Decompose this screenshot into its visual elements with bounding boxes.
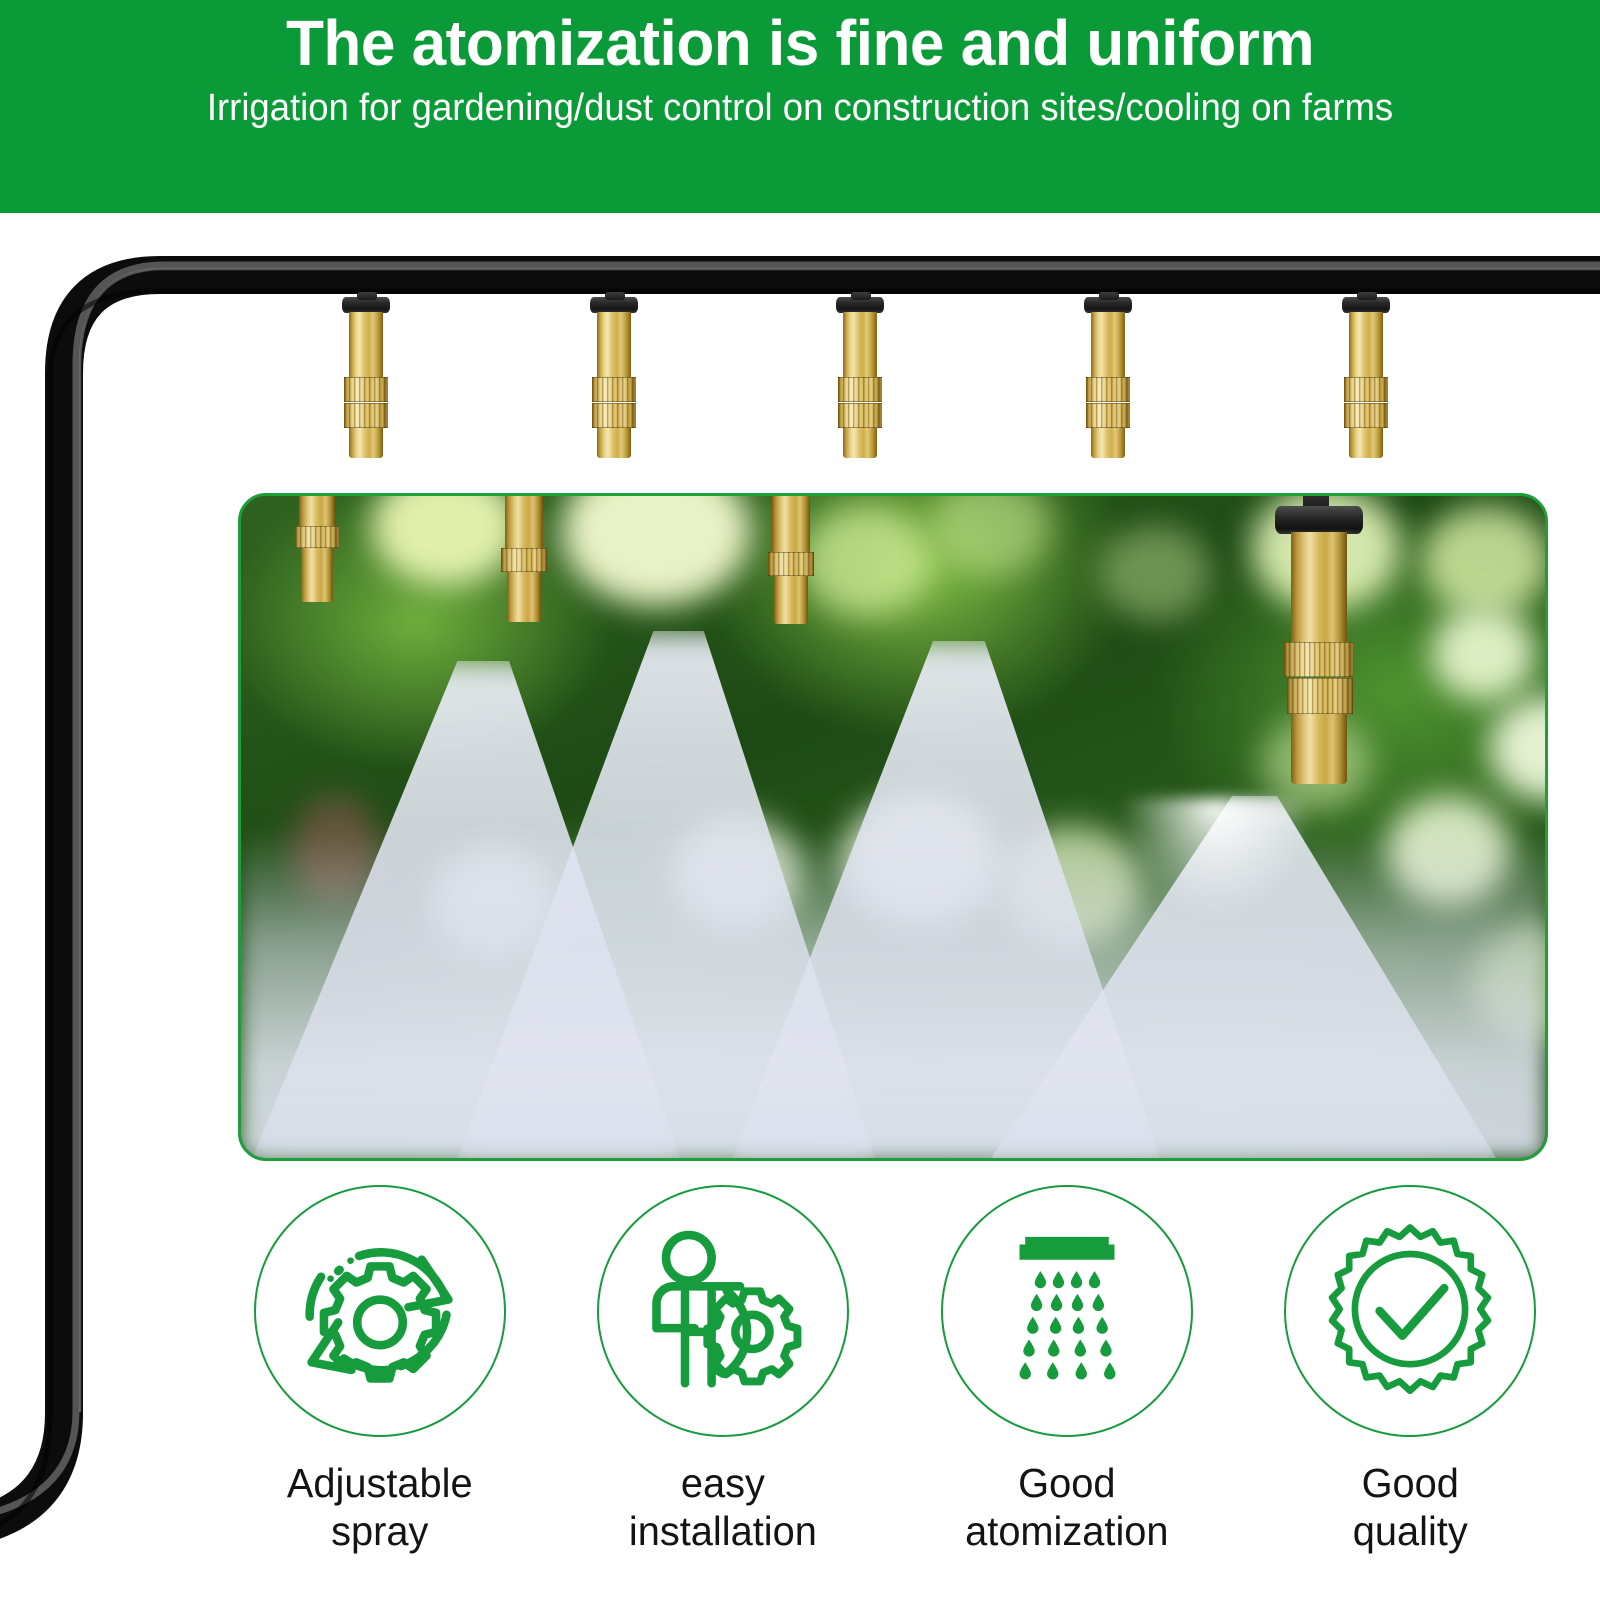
hero-nozzle-ring-lower bbox=[1287, 678, 1353, 714]
droplet-row-3 bbox=[1027, 1317, 1108, 1334]
nozzle-brass-barrel bbox=[1091, 312, 1125, 378]
photo-nozzle-tip bbox=[774, 576, 808, 624]
check-mark bbox=[1380, 1288, 1445, 1336]
photo-content bbox=[241, 496, 1545, 1158]
photo-nozzle-2 bbox=[499, 496, 549, 617]
nozzle-3 bbox=[834, 297, 886, 447]
nozzle-2 bbox=[588, 297, 640, 447]
quality-badge-check-icon bbox=[1315, 1216, 1505, 1406]
photo-nozzle-ring bbox=[501, 548, 547, 572]
feature-label-line2: installation bbox=[629, 1507, 817, 1555]
nozzle-knurled-ring-upper bbox=[1344, 377, 1388, 402]
nozzle-5 bbox=[1340, 297, 1392, 447]
feature-label-line2: spray bbox=[287, 1507, 473, 1555]
nozzle-black-cap bbox=[1342, 297, 1390, 313]
product-photo bbox=[238, 493, 1548, 1161]
photo-nozzle-barrel bbox=[505, 496, 543, 552]
nozzle-brass-tip bbox=[843, 428, 877, 458]
hero-nozzle-ring-upper bbox=[1284, 642, 1354, 677]
nozzle-black-cap bbox=[1084, 297, 1132, 313]
nozzle-knurled-ring-upper bbox=[344, 377, 388, 402]
feature-icon-circle bbox=[1284, 1185, 1536, 1437]
badge-inner-circle bbox=[1355, 1254, 1465, 1364]
page-subtitle: Irrigation for gardening/dust control on… bbox=[32, 82, 1568, 134]
photo-nozzle-ring bbox=[768, 552, 814, 576]
feature-label: easy installation bbox=[629, 1459, 817, 1555]
feature-icon-circle bbox=[941, 1185, 1193, 1437]
photo-nozzle-3 bbox=[766, 496, 816, 620]
photo-nozzle-1 bbox=[293, 496, 341, 614]
nozzle-brass-barrel bbox=[349, 312, 383, 378]
product-infographic-page: The atomization is fine and uniform Irri… bbox=[0, 0, 1600, 1600]
nozzle-knurled-ring-lower bbox=[838, 403, 882, 428]
person-with-gear-icon bbox=[628, 1216, 818, 1406]
nozzle-black-cap bbox=[342, 297, 390, 313]
nozzle-brass-tip bbox=[1349, 428, 1383, 458]
feature-item-good-atomization[interactable]: Good atomization bbox=[917, 1185, 1217, 1585]
photo-nozzle-barrel bbox=[772, 496, 810, 556]
feature-item-good-quality[interactable]: Good quality bbox=[1260, 1185, 1560, 1585]
nozzle-knurled-ring-lower bbox=[1086, 403, 1130, 428]
feature-label-line1: Good bbox=[965, 1459, 1168, 1507]
feature-item-easy-installation[interactable]: easy installation bbox=[573, 1185, 873, 1585]
nozzle-knurled-ring-upper bbox=[592, 377, 636, 402]
bokeh-highlight bbox=[801, 506, 931, 616]
nozzle-brass-barrel bbox=[597, 312, 631, 378]
feature-label-line1: Good bbox=[1352, 1459, 1467, 1507]
nozzle-knurled-ring-upper bbox=[1086, 377, 1130, 402]
shower-head-droplets-icon bbox=[972, 1216, 1162, 1406]
nozzle-brass-barrel bbox=[843, 312, 877, 378]
feature-icon-circle bbox=[597, 1185, 849, 1437]
page-title: The atomization is fine and uniform bbox=[24, 6, 1576, 80]
nozzle-knurled-ring-lower bbox=[1344, 403, 1388, 428]
feature-label-line2: atomization bbox=[965, 1507, 1168, 1555]
nozzle-brass-tip bbox=[1091, 428, 1125, 458]
photo-nozzle-tip bbox=[301, 548, 333, 602]
photo-nozzle-ring bbox=[295, 526, 339, 548]
droplet-row-4 bbox=[1023, 1340, 1111, 1357]
nozzle-brass-tip bbox=[349, 428, 383, 458]
feature-icon-circle bbox=[254, 1185, 506, 1437]
droplet-row-1 bbox=[1034, 1271, 1100, 1288]
feature-label: Good quality bbox=[1352, 1459, 1467, 1555]
mist-haze bbox=[241, 828, 1545, 1158]
feature-item-adjustable-spray[interactable]: Adjustable spray bbox=[230, 1185, 530, 1585]
feature-list: Adjustable spray bbox=[230, 1185, 1560, 1585]
feature-label: Adjustable spray bbox=[287, 1459, 473, 1555]
nozzle-knurled-ring-lower bbox=[344, 403, 388, 428]
nozzle-brass-tip bbox=[597, 428, 631, 458]
nozzle-1 bbox=[340, 297, 392, 447]
header-banner: The atomization is fine and uniform Irri… bbox=[0, 0, 1600, 213]
nozzle-knurled-ring-lower bbox=[592, 403, 636, 428]
nozzle-black-cap bbox=[836, 297, 884, 313]
adjustable-gear-arrows-icon bbox=[285, 1216, 475, 1406]
feature-label-line2: quality bbox=[1352, 1507, 1467, 1555]
photo-nozzle-tip bbox=[507, 572, 541, 622]
droplet-row-5 bbox=[1019, 1362, 1115, 1379]
droplet-row-2 bbox=[1031, 1294, 1104, 1311]
feature-label: Good atomization bbox=[965, 1459, 1168, 1555]
nozzle-black-cap bbox=[590, 297, 638, 313]
nozzle-brass-barrel bbox=[1349, 312, 1383, 378]
bokeh-highlight bbox=[1421, 506, 1545, 616]
hero-nozzle-tip bbox=[1291, 714, 1347, 784]
hero-nozzle-barrel bbox=[1291, 532, 1347, 644]
feature-label-line1: easy bbox=[629, 1459, 817, 1507]
bokeh-highlight bbox=[1101, 526, 1211, 621]
bokeh-highlight bbox=[1431, 606, 1536, 701]
hero-nozzle-black-cap bbox=[1275, 506, 1363, 534]
nozzle-knurled-ring-upper bbox=[838, 377, 882, 402]
photo-nozzle-hero bbox=[1251, 496, 1381, 804]
photo-nozzle-barrel bbox=[299, 496, 335, 530]
feature-label-line1: Adjustable bbox=[287, 1459, 473, 1507]
nozzle-4 bbox=[1082, 297, 1134, 447]
